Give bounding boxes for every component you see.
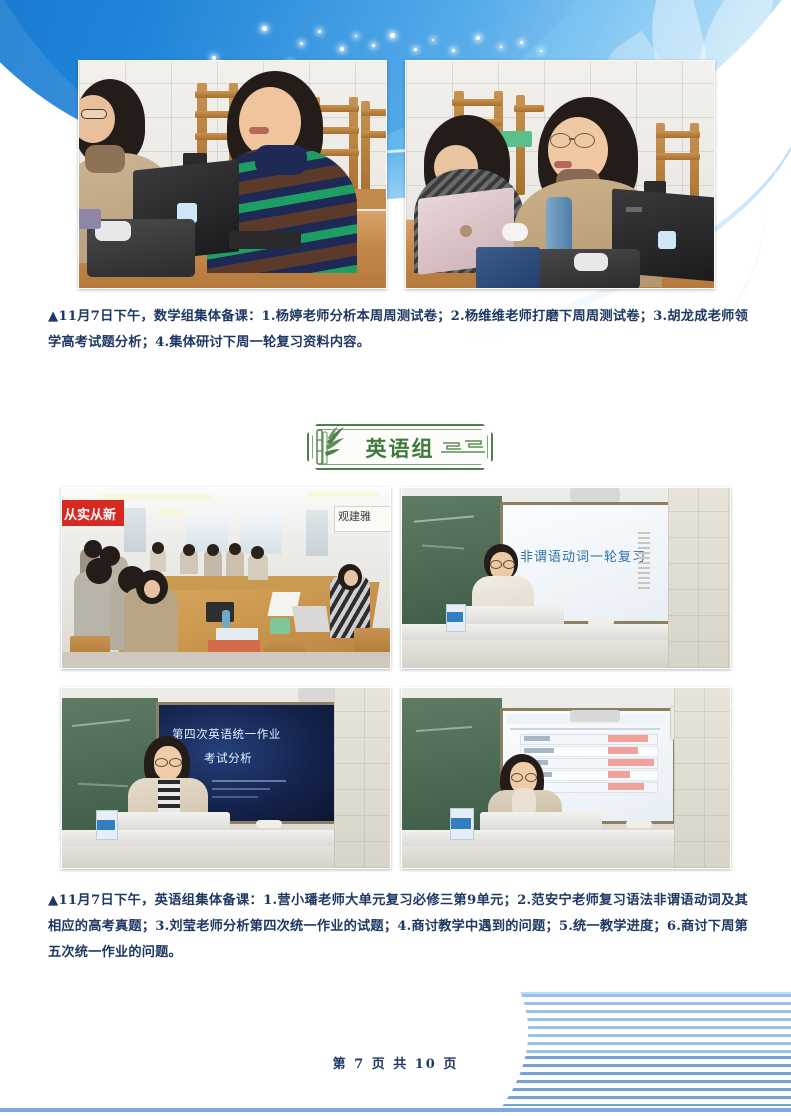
- wall-banner-text: 从实从新: [64, 504, 120, 522]
- photo-english-4: [401, 687, 731, 869]
- cloud-pattern-icon: [439, 435, 487, 459]
- projector-screen-title-line1: 第四次英语统一作业: [172, 726, 281, 742]
- caption-english-group: ▲11月7日下午，英语组集体备课：1.营小璠老师大单元复习必修三第9单元；2.范…: [48, 888, 748, 966]
- footer-decoration: 第 7 页 共 10 页: [0, 966, 791, 1116]
- page-number: 第 7 页 共 10 页: [0, 1053, 791, 1072]
- document-page: ▲11月7日下午，数学组集体备课：1.杨婷老师分析本周周测试卷；2.杨维维老师打…: [0, 0, 791, 1116]
- photo-english-1: 从实从新 观建雅: [61, 487, 391, 669]
- projector-screen-title-line2: 考试分析: [204, 750, 252, 766]
- photo-english-2: 非谓语动词一轮复习: [401, 487, 731, 669]
- photo-math-1: [78, 60, 387, 289]
- footer-baseline: [0, 1106, 791, 1116]
- section-banner-english: 英语组: [307, 424, 493, 470]
- projector-screen-text: 非谓语动词一轮复习: [520, 546, 646, 565]
- photo-math-2: [405, 60, 715, 289]
- wall-calligraphy-text: 观建雅: [338, 508, 388, 528]
- photo-english-3: 第四次英语统一作业 考试分析: [61, 687, 391, 869]
- caption-math-group: ▲11月7日下午，数学组集体备课：1.杨婷老师分析本周周测试卷；2.杨维维老师打…: [48, 304, 748, 356]
